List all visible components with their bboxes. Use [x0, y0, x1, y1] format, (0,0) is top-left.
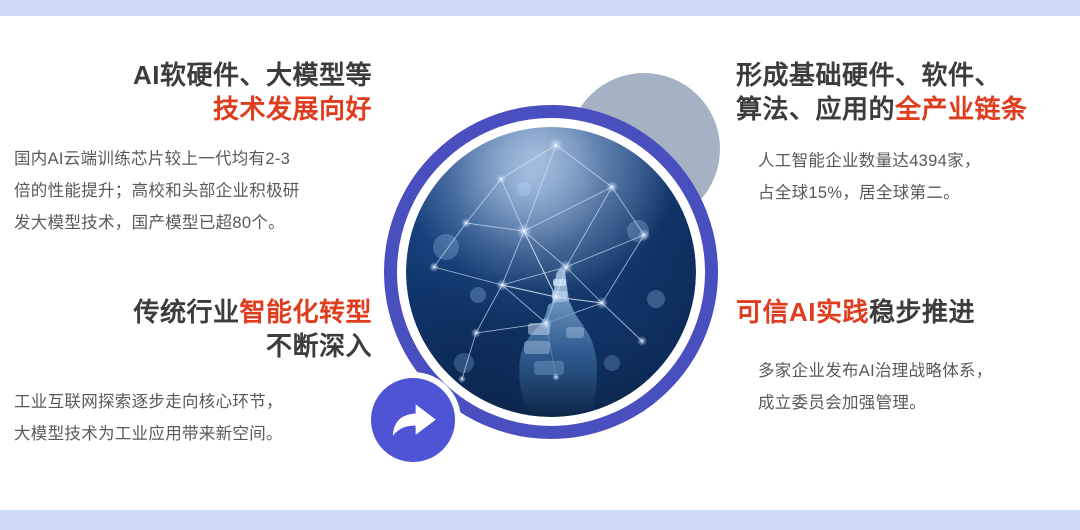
- heading-line-1: AI软硬件、大模型等: [0, 58, 372, 92]
- body-line-1: 多家企业发布AI治理战略体系，: [758, 355, 1080, 387]
- body-bottom-right: 多家企业发布AI治理战略体系， 成立委员会加强管理。: [736, 355, 1080, 419]
- text-block-bottom-right: 可信AI实践稳步推进 多家企业发布AI治理战略体系， 成立委员会加强管理。: [736, 295, 1080, 420]
- heading-top-right: 形成基础硬件、软件、 算法、应用的全产业链条: [736, 58, 1080, 127]
- heading-bottom-left: 传统行业智能化转型 不断深入: [0, 295, 372, 364]
- body-line-1: 人工智能企业数量达4394家，: [758, 145, 1080, 177]
- heading-bottom-right: 可信AI实践稳步推进: [736, 295, 1080, 329]
- top-accent-bar: [0, 0, 1080, 16]
- heading-line-2-highlight: 全产业链条: [895, 94, 1028, 124]
- body-line-2: 成立委员会加强管理。: [758, 387, 1080, 419]
- heading-highlight: 可信AI实践: [736, 297, 869, 327]
- center-graphic: [355, 55, 730, 480]
- body-line-2: 倍的性能提升；高校和头部企业积极研: [14, 175, 372, 207]
- heading-line-1-plain: 传统行业: [133, 297, 239, 327]
- heading-line-2: 不断深入: [0, 329, 372, 363]
- body-line-2: 占全球15%，居全球第二。: [758, 177, 1080, 209]
- body-line-1: 工业互联网探索逐步走向核心环节，: [14, 386, 372, 418]
- heading-top-left: AI软硬件、大模型等 技术发展向好: [0, 58, 372, 127]
- text-block-top-right: 形成基础硬件、软件、 算法、应用的全产业链条 人工智能企业数量达4394家， 占…: [736, 58, 1080, 209]
- text-block-top-left: AI软硬件、大模型等 技术发展向好 国内AI云端训练芯片较上一代均有2-3 倍的…: [0, 58, 378, 239]
- body-top-left: 国内AI云端训练芯片较上一代均有2-3 倍的性能提升；高校和头部企业积极研 发大…: [0, 143, 372, 240]
- forward-arrow-icon: [385, 392, 441, 448]
- body-top-right: 人工智能企业数量达4394家， 占全球15%，居全球第二。: [736, 145, 1080, 209]
- heading-line-2: 算法、应用的全产业链条: [736, 92, 1080, 126]
- bottom-accent-bar: [0, 510, 1080, 530]
- heading-line-1: 可信AI实践稳步推进: [736, 295, 1080, 329]
- body-line-3: 发大模型技术，国产模型已超80个。: [14, 207, 372, 239]
- forward-arrow-badge[interactable]: [365, 372, 461, 468]
- heading-line-2-highlight: 技术发展向好: [0, 92, 372, 126]
- heading-line-2-plain: 算法、应用的: [736, 94, 895, 124]
- infographic-canvas: AI软硬件、大模型等 技术发展向好 国内AI云端训练芯片较上一代均有2-3 倍的…: [0, 0, 1080, 530]
- body-bottom-left: 工业互联网探索逐步走向核心环节， 大模型技术为工业应用带来新空间。: [0, 386, 372, 450]
- body-line-2: 大模型技术为工业应用带来新空间。: [14, 418, 372, 450]
- text-block-bottom-left: 传统行业智能化转型 不断深入 工业互联网探索逐步走向核心环节， 大模型技术为工业…: [0, 295, 378, 450]
- heading-line-1: 传统行业智能化转型: [0, 295, 372, 329]
- body-line-1: 国内AI云端训练芯片较上一代均有2-3: [14, 143, 372, 175]
- heading-plain: 稳步推进: [869, 297, 975, 327]
- heading-line-1-highlight: 智能化转型: [239, 297, 372, 327]
- heading-line-1: 形成基础硬件、软件、: [736, 58, 1080, 92]
